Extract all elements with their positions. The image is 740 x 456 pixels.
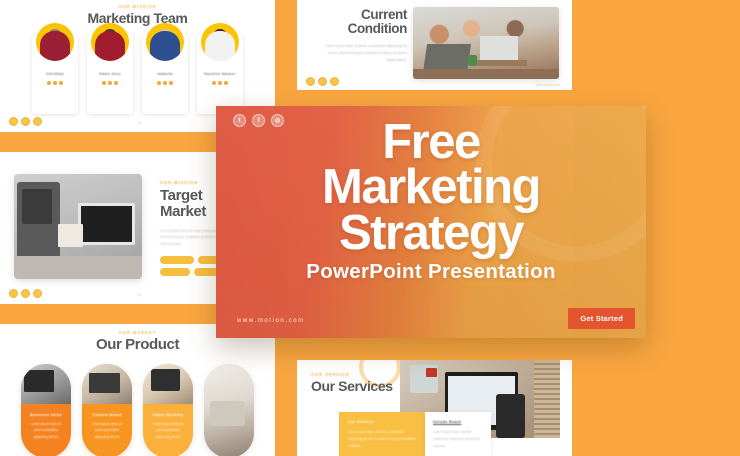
- get-started-button[interactable]: Get Started: [568, 308, 635, 329]
- avatar: [146, 23, 184, 61]
- hero-title-line-3: Strategy: [216, 210, 646, 257]
- social-dots[interactable]: [212, 81, 228, 85]
- member-name: Danielle Hauser: [204, 72, 235, 77]
- slide-page-number: 05: [138, 293, 142, 297]
- list-item[interactable]: [204, 364, 254, 456]
- card-title: Include Reach: [433, 420, 483, 424]
- list-item[interactable]: Danielle Hauser: [197, 35, 243, 114]
- card-title: Smart Working: [149, 413, 187, 417]
- card-text: Lorem ipsum dolor sit amet consectetur a…: [348, 429, 416, 450]
- card-text: Lorem ipsum dolor sit amet consectetur a…: [27, 421, 65, 441]
- member-name: Isabella: [157, 72, 173, 77]
- list-item[interactable]: Christian: [32, 35, 78, 114]
- list-item[interactable]: Smart Working Lorem ipsum dolor sit amet…: [143, 364, 193, 456]
- hero-website-url: www.motion.com: [237, 318, 305, 324]
- card-title: Business Ideas: [27, 413, 65, 417]
- service-card-secondary[interactable]: Include Reach Lorem ipsum dolor sit amet…: [425, 412, 491, 456]
- list-item[interactable]: Owen Voss: [87, 35, 133, 114]
- page-title: Current Condition: [325, 8, 407, 36]
- team-card-list: Christian Owen Voss Isabella: [0, 35, 275, 114]
- card-title: Trusted Brand: [88, 413, 126, 417]
- hero-title-line-2: Marketing: [216, 165, 646, 210]
- photo-laptop-typing: [21, 364, 71, 404]
- social-dots[interactable]: [157, 81, 173, 85]
- member-name: Christian: [46, 72, 64, 77]
- card-title: Our Services: [348, 420, 416, 424]
- tag-pill[interactable]: [160, 256, 194, 264]
- pagination-dots[interactable]: [9, 289, 42, 298]
- avatar: [201, 23, 239, 61]
- card-text: Lorem ipsum dolor sit amet consectetur a…: [88, 421, 126, 441]
- social-dots[interactable]: [47, 81, 63, 85]
- presentation-preview-canvas: Our Mission Marketing Team Christian Owe…: [0, 0, 740, 456]
- slide-current-condition[interactable]: Current Condition Lorem ipsum dolor sit …: [297, 0, 572, 90]
- list-item[interactable]: Trusted Brand Lorem ipsum dolor sit amet…: [82, 364, 132, 456]
- photo-hands-keyboard: [204, 364, 254, 456]
- member-name: Owen Voss: [99, 72, 121, 77]
- photo-desk-work: [14, 174, 142, 279]
- photo-office-meeting: [413, 7, 559, 79]
- slide-header: Our Mission Marketing Team: [0, 0, 275, 26]
- avatar: [91, 23, 129, 61]
- product-card-list: Business Ideas Lorem ipsum dolor sit ame…: [0, 364, 275, 456]
- slide-our-product[interactable]: Our Market Our Product Business Ideas Lo…: [0, 324, 275, 456]
- list-item[interactable]: Isabella: [142, 35, 188, 114]
- page-title: Our Product: [0, 337, 275, 353]
- page-title: Marketing Team: [0, 11, 275, 26]
- social-dots[interactable]: [102, 81, 118, 85]
- card-text: Lorem ipsum dolor sit amet consectetur a…: [433, 429, 483, 450]
- avatar: [36, 23, 74, 61]
- service-card-highlight[interactable]: Our Services Lorem ipsum dolor sit amet …: [339, 412, 425, 456]
- pagination-dots[interactable]: [306, 77, 339, 86]
- photo-desk-laptop: [82, 364, 132, 404]
- hero-title-block: Free Marketing Strategy PowerPoint Prese…: [216, 120, 646, 284]
- hero-slide-card[interactable]: t f ◎ Free Marketing Strategy PowerPoint…: [216, 106, 646, 338]
- tag-pill[interactable]: [160, 268, 190, 276]
- list-item[interactable]: Business Ideas Lorem ipsum dolor sit ame…: [21, 364, 71, 456]
- card-text: Lorem ipsum dolor sit amet consectetur a…: [149, 421, 187, 441]
- slide-caption: www.motion.com: [536, 83, 560, 87]
- hero-subtitle: PowerPoint Presentation: [216, 260, 646, 284]
- hero-title-line-1: Free: [216, 120, 646, 165]
- pagination-dots[interactable]: [9, 117, 42, 126]
- photo-tablet-hands: [143, 364, 193, 404]
- body-copy: Lorem ipsum dolor sit amet, consectetur …: [325, 43, 407, 63]
- slide-our-services[interactable]: Our Service Our Services Our Services Lo…: [297, 360, 572, 456]
- slide-page-number: 02: [138, 121, 142, 125]
- slide-eyebrow: Our Mission: [0, 4, 275, 9]
